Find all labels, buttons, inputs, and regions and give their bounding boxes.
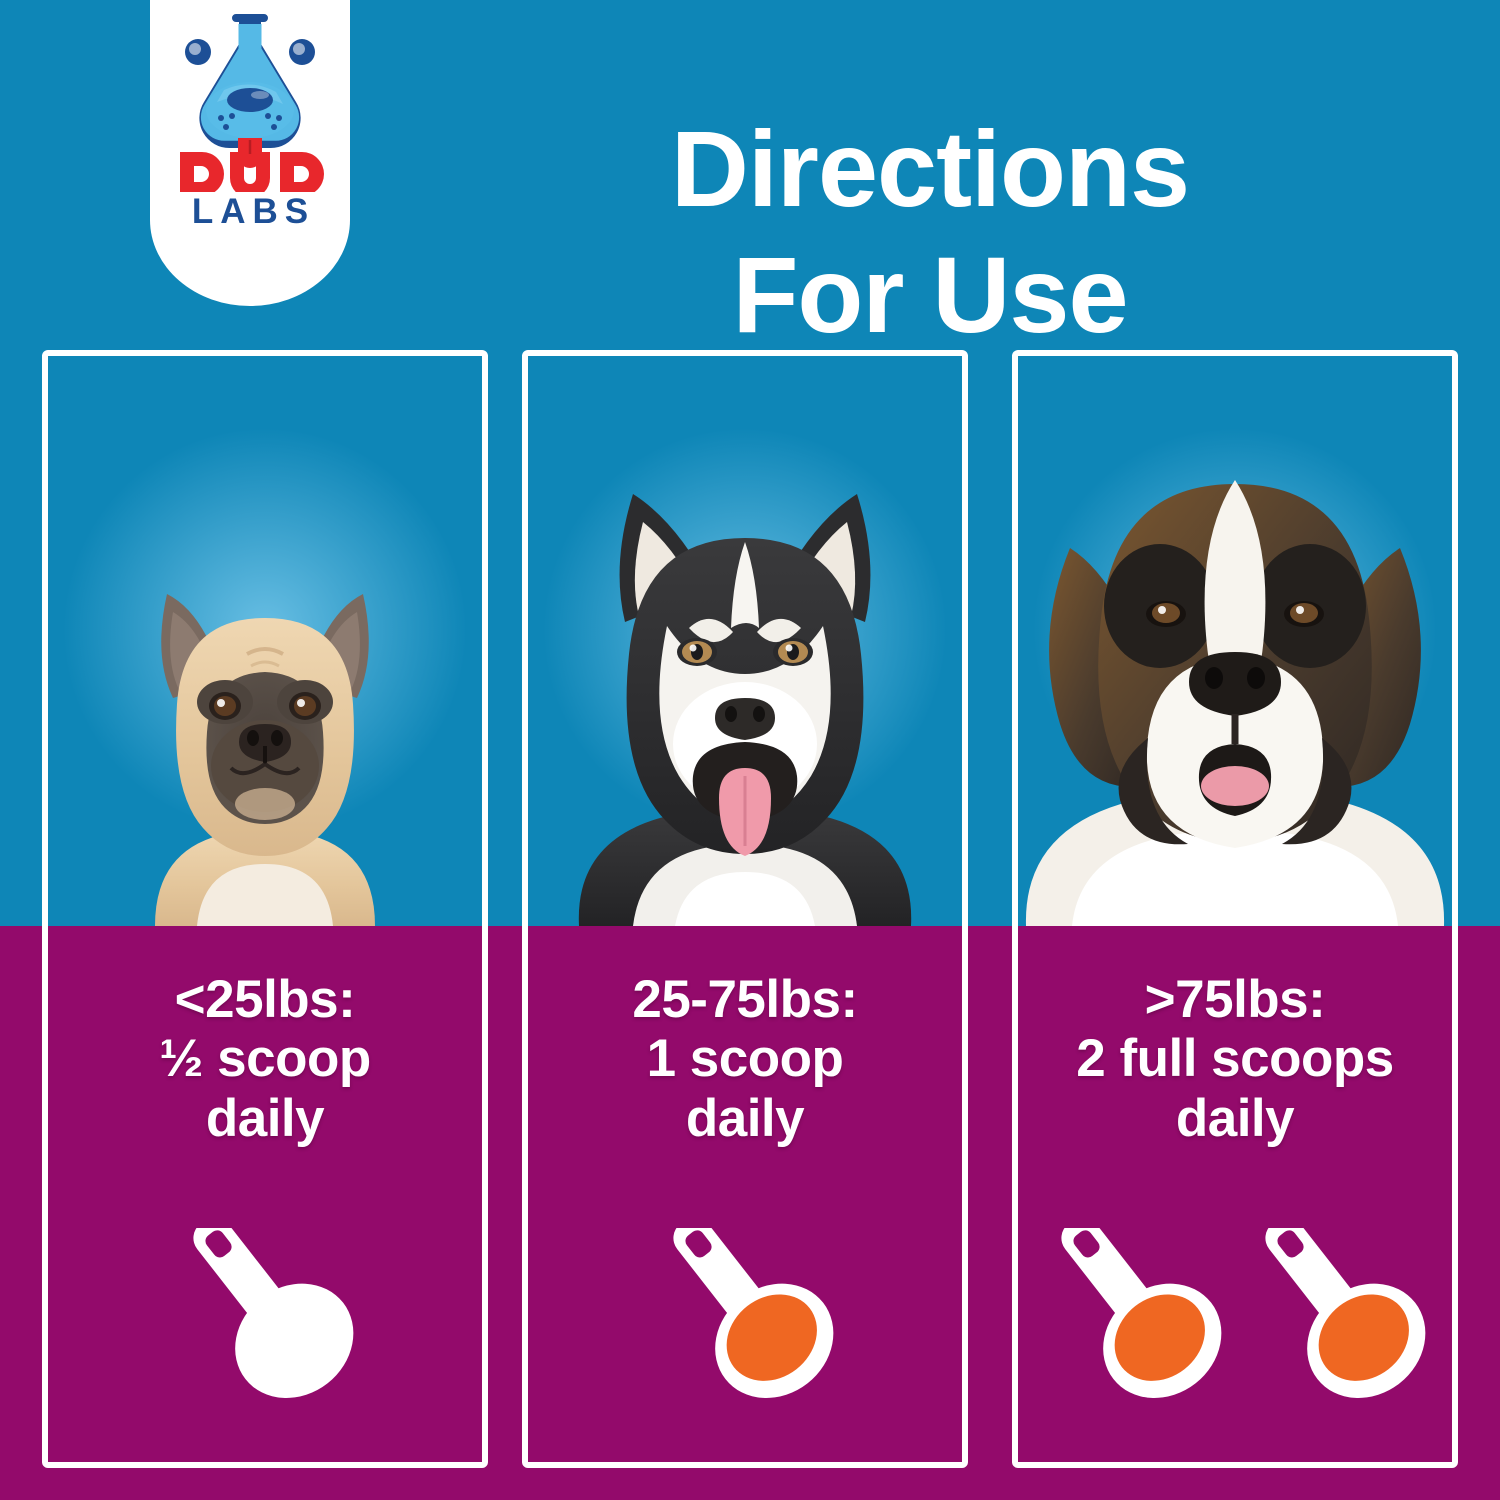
brand-name-labs: LABS xyxy=(185,194,315,229)
dosage-card-small-dog: <25lbs: ½ scoop daily xyxy=(42,350,488,1468)
dosage-body-small-dog: <25lbs: ½ scoop daily xyxy=(48,926,482,1462)
page-title: Directions For Use xyxy=(390,106,1470,357)
weight-range-label: >75lbs: xyxy=(1026,970,1444,1029)
dog-flask-logo-icon xyxy=(174,6,326,192)
dosage-text-large-dog: >75lbs: 2 full scoops daily xyxy=(1018,970,1452,1148)
dosage-text-small-dog: <25lbs: ½ scoop daily xyxy=(48,970,482,1148)
directions-for-use-poster: LABS Directions For Use xyxy=(0,0,1500,1500)
dose-line-2: daily xyxy=(536,1089,954,1148)
dosage-card-medium-dog: 25-75lbs: 1 scoop daily xyxy=(522,350,968,1468)
dose-line-1: 2 full scoops xyxy=(1026,1029,1444,1088)
measuring-scoop-icon xyxy=(1237,1228,1437,1408)
measuring-scoop-icon xyxy=(150,1228,380,1408)
scoop-icons-medium-dog xyxy=(528,1228,962,1408)
measuring-scoop-icon xyxy=(1033,1228,1233,1408)
page-title-line-1: Directions xyxy=(390,106,1470,231)
dosage-body-large-dog: >75lbs: 2 full scoops daily xyxy=(1018,926,1452,1462)
measuring-scoop-icon xyxy=(630,1228,860,1408)
dose-line-2: daily xyxy=(56,1089,474,1148)
dosage-body-medium-dog: 25-75lbs: 1 scoop daily xyxy=(528,926,962,1462)
page-title-line-2: For Use xyxy=(390,232,1470,357)
scoop-icons-small-dog xyxy=(48,1228,482,1408)
dosage-card-large-dog: >75lbs: 2 full scoops daily xyxy=(1012,350,1458,1468)
weight-range-label: 25-75lbs: xyxy=(536,970,954,1029)
weight-range-label: <25lbs: xyxy=(56,970,474,1029)
scoop-icons-large-dog xyxy=(1018,1228,1452,1408)
dosage-text-medium-dog: 25-75lbs: 1 scoop daily xyxy=(528,970,962,1148)
dog-photo-siberian-husky xyxy=(528,356,962,926)
brand-logo-badge: LABS xyxy=(150,0,350,306)
dog-photo-french-bulldog xyxy=(48,356,482,926)
dose-line-1: ½ scoop xyxy=(56,1029,474,1088)
dog-photo-saint-bernard xyxy=(1018,356,1452,926)
dose-line-1: 1 scoop xyxy=(536,1029,954,1088)
dose-line-2: daily xyxy=(1026,1089,1444,1148)
